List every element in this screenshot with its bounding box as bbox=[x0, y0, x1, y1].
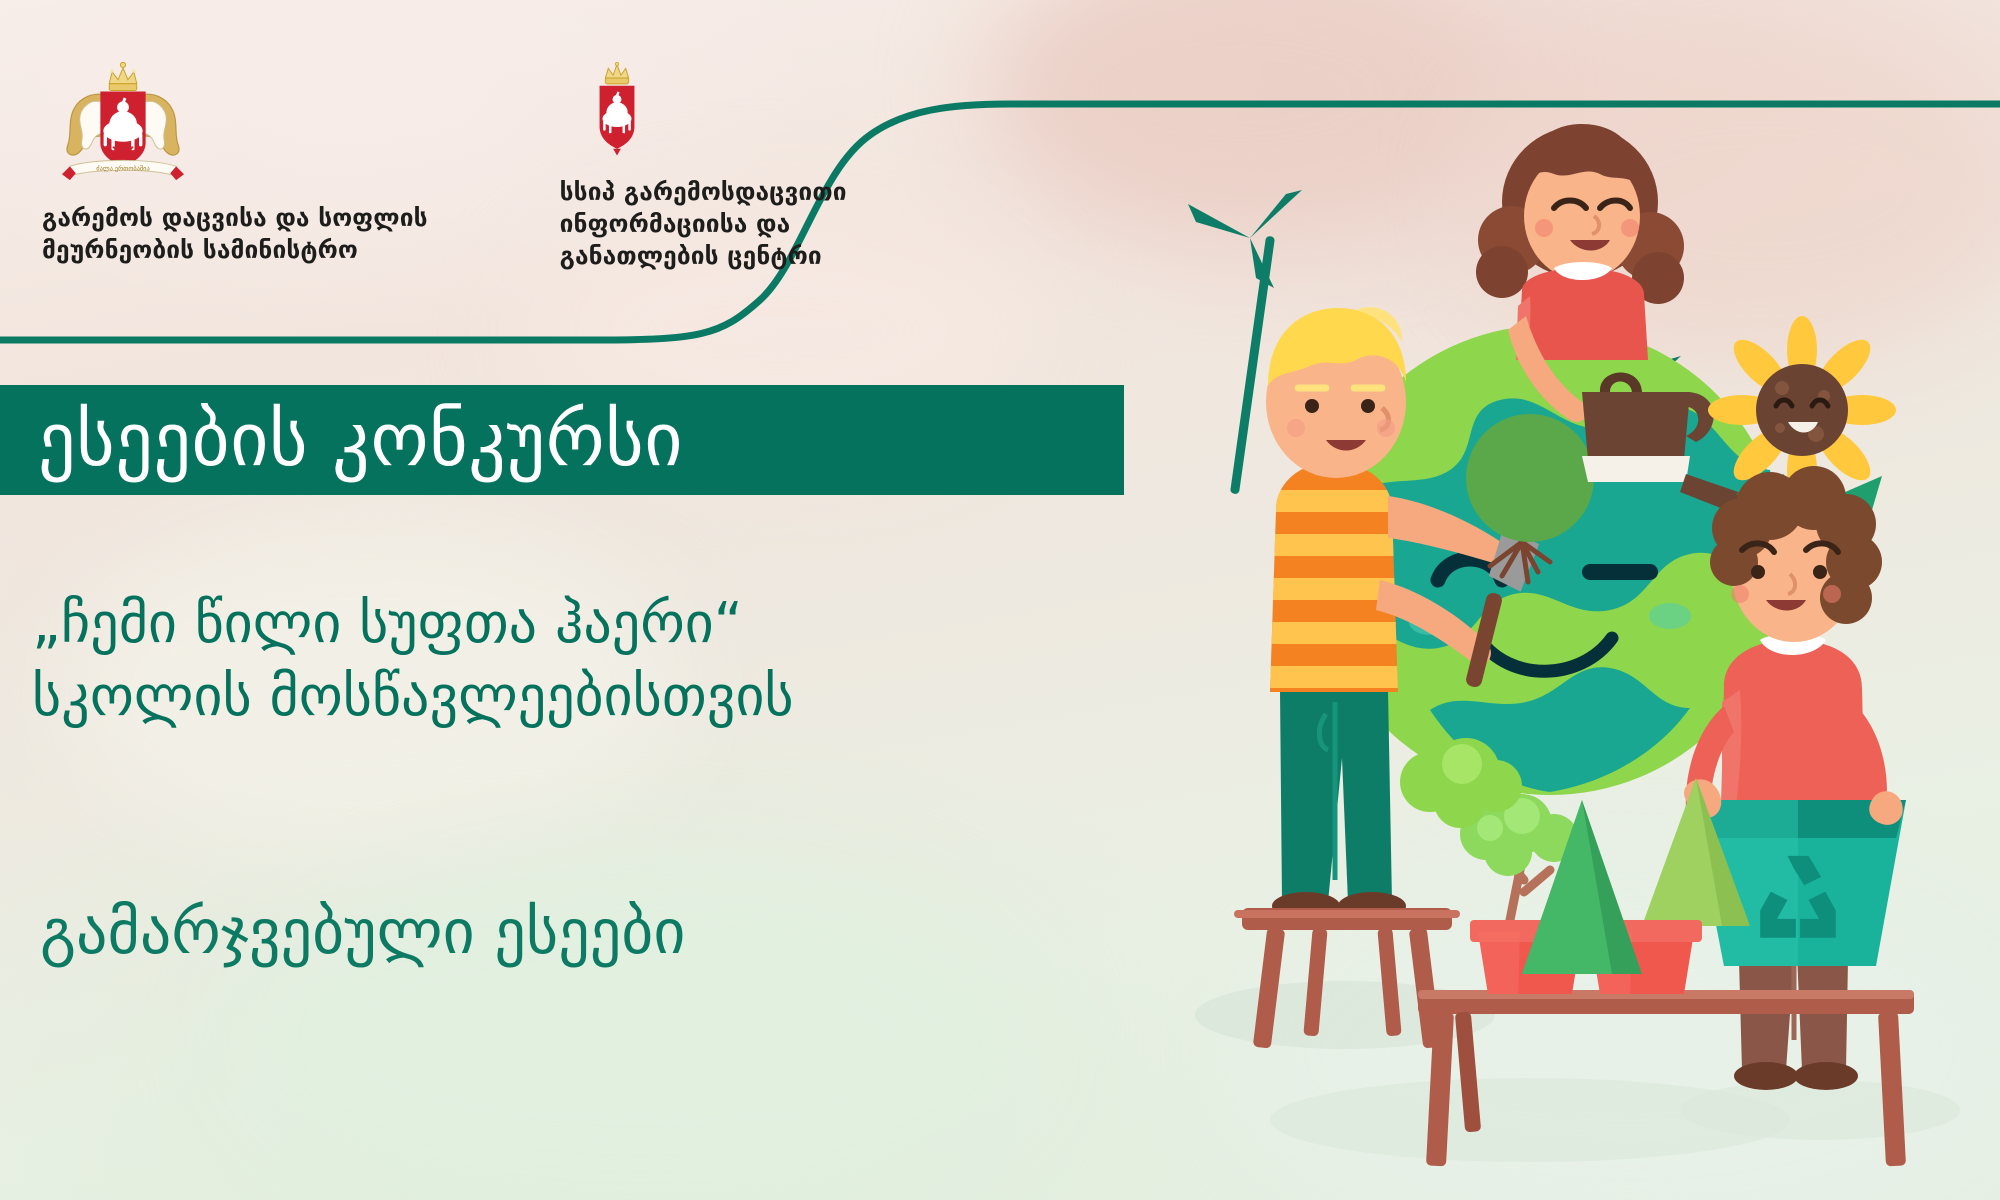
subtitle-line-2: სკოლის მოსწავლეებისთვის bbox=[32, 661, 1252, 734]
subtitle-line-1: „ჩემი წილი სუფთა ჰაერი“ bbox=[32, 591, 743, 656]
logo-ministry: ძალა ერთობაშია გარემოს დაცვისა და სოფლის… bbox=[42, 62, 428, 266]
logo-center-label: სსიპ გარემოსდაცვითი ინფორმაციისა და განა… bbox=[560, 176, 847, 272]
subtitle-block: „ჩემი წილი სუფთა ჰაერი“ სკოლის მოსწავლეე… bbox=[32, 588, 1252, 734]
georgia-coat-of-arms-icon: ძალა ერთობაშია bbox=[54, 62, 192, 186]
poster-root: ძალა ერთობაშია გარემოს დაცვისა და სოფლის… bbox=[0, 0, 2000, 1200]
logo-row: ძალა ერთობაშია გარემოს დაცვისა და სოფლის… bbox=[42, 62, 847, 272]
logo-ministry-label: გარემოს დაცვისა და სოფლის მეურნეობის სამ… bbox=[42, 202, 428, 266]
svg-text:ძალა ერთობაშია: ძალა ერთობაშია bbox=[96, 163, 149, 172]
logo-center: სსიპ გარემოსდაცვითი ინფორმაციისა და განა… bbox=[560, 62, 847, 272]
illustration bbox=[1130, 110, 2000, 1200]
page-title: ესეების კონკურსი bbox=[38, 403, 683, 477]
sapling-foliage bbox=[1466, 414, 1594, 542]
title-banner: ესეების კონკურსი bbox=[0, 385, 1124, 495]
georgia-small-coat-of-arms-icon bbox=[586, 62, 648, 158]
footer-headline: გამარჯვებული ესეები bbox=[40, 898, 1240, 966]
